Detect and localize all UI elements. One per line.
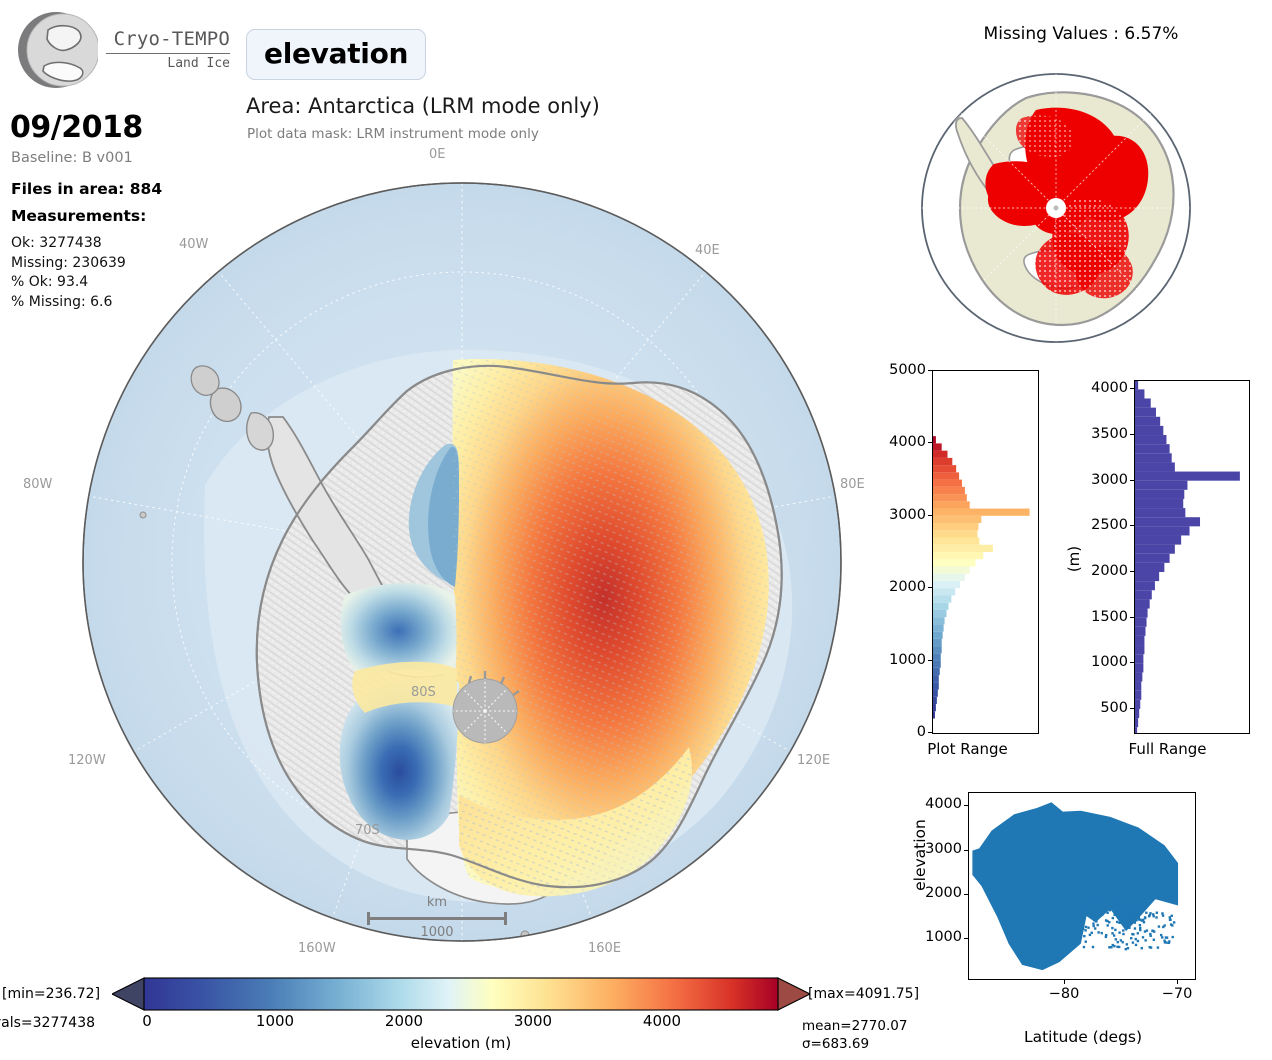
colorbar-tick-4000: 4000	[643, 1012, 681, 1030]
scatter-xtick: −80	[1044, 986, 1084, 1002]
scatter-ytick: 3000	[910, 841, 962, 857]
map-label-120E: 120E	[797, 753, 830, 768]
axis-tick-mark	[1130, 617, 1134, 618]
axis-tick-mark	[1130, 434, 1134, 435]
colorbar-tick-0: 0	[142, 1012, 152, 1030]
scatter-xtick-mark	[1177, 980, 1178, 984]
cryo-tempo-logo	[14, 8, 98, 92]
colorbar-tick-3000: 3000	[514, 1012, 552, 1030]
map-label-0E: 0E	[429, 147, 446, 162]
axis-tick-label: 1500	[1084, 609, 1128, 625]
plot-range-caption: Plot Range	[880, 740, 1055, 758]
axis-tick-mark	[1130, 388, 1134, 389]
map-label-40E: 40E	[695, 243, 720, 258]
scatter-ytick-mark	[964, 938, 968, 939]
area-title: Area: Antarctica (LRM mode only)	[246, 94, 600, 118]
parameter-badge: elevation	[246, 29, 426, 80]
plot-range-plot-area	[932, 370, 1039, 734]
axis-tick-mark	[1130, 525, 1134, 526]
axis-tick-label: 4000	[1084, 380, 1128, 396]
plot-range-histogram: Plot Range 010002000300040005000	[880, 366, 1055, 770]
mask-subtitle: Plot data mask: LRM instrument mode only	[247, 126, 539, 142]
scatter-ytick: 2000	[910, 885, 962, 901]
logo-wordmark: Cryo-TEMPO Land Ice	[100, 30, 230, 70]
colorbar-axis-label: elevation (m)	[112, 1034, 810, 1052]
map-label-80W: 80W	[23, 477, 52, 492]
axis-tick-label: 1000	[1084, 654, 1128, 670]
date-label: 09/2018	[10, 110, 143, 145]
scatter-ytick-mark	[964, 894, 968, 895]
colorbar-tick-2000: 2000	[385, 1012, 423, 1030]
scatter-xtick: −70	[1157, 986, 1197, 1002]
colorbar-max-label: [max=4091.75]	[808, 986, 919, 1002]
scalebar-unit: km	[367, 895, 507, 910]
elevation-latitude-scatter	[968, 792, 1196, 980]
axis-tick-mark	[1130, 571, 1134, 572]
map-label-40W: 40W	[179, 237, 208, 252]
axis-tick-label: 5000	[882, 362, 926, 378]
axis-tick-mark	[928, 442, 932, 443]
scatter-ytick-mark	[964, 850, 968, 851]
axis-tick-label: 3000	[882, 507, 926, 523]
map-label-120W: 120W	[68, 753, 106, 768]
axis-tick-mark	[1130, 662, 1134, 663]
axis-tick-label: 500	[1084, 700, 1128, 716]
colorbar-sigma-label: σ=683.69	[802, 1036, 869, 1052]
axis-tick-label: 4000	[882, 434, 926, 450]
axis-tick-label: 0	[882, 724, 926, 740]
antarctica-elevation-map: 0E 40E 80E 120E 160E 160W 120W 80W 40W 8…	[55, 155, 870, 970]
scatter-ytick: 1000	[910, 929, 962, 945]
colorbar-min-label: [min=236.72]	[2, 986, 100, 1002]
axis-tick-mark	[1130, 480, 1134, 481]
colorbar-mean-label: mean=2770.07	[802, 1018, 907, 1034]
map-label-160W: 160W	[298, 941, 336, 956]
axis-tick-label: 1000	[882, 652, 926, 668]
missing-values-map	[906, 58, 1206, 358]
axis-tick-mark	[928, 370, 932, 371]
map-label-80S: 80S	[411, 685, 436, 700]
logo-subtitle: Land Ice	[100, 57, 230, 70]
scatter-xtick-mark	[1064, 980, 1065, 984]
scatter-xlabel: Latitude (degs)	[918, 1028, 1248, 1046]
axis-tick-label: 2500	[1084, 517, 1128, 533]
logo-title: Cryo-TEMPO	[100, 30, 230, 49]
scalebar-value: 1000	[367, 925, 507, 940]
full-range-plot-area	[1134, 380, 1250, 734]
axis-tick-mark	[1130, 708, 1134, 709]
missing-values-title: Missing Values : 6.57%	[890, 24, 1272, 44]
logo-divider	[106, 53, 230, 54]
axis-tick-label: 2000	[1084, 563, 1128, 579]
scatter-ytick: 4000	[910, 796, 962, 812]
axis-tick-label: 3500	[1084, 426, 1128, 442]
axis-tick-label: 2000	[882, 579, 926, 595]
scatter-ytick-mark	[964, 805, 968, 806]
colorbar-nvals-label: nvals=3277438	[0, 1015, 95, 1031]
parameter-badge-label: elevation	[264, 37, 408, 70]
full-range-ylabel: (m)	[1065, 539, 1083, 579]
axis-tick-mark	[928, 660, 932, 661]
axis-tick-mark	[928, 587, 932, 588]
full-range-caption: Full Range	[1080, 740, 1255, 758]
colorbar-ticks: 0 1000 2000 3000 4000	[112, 1012, 810, 1032]
map-label-70S: 70S	[355, 823, 380, 838]
axis-tick-label: 3000	[1084, 472, 1128, 488]
map-label-160E: 160E	[588, 941, 621, 956]
axis-tick-mark	[928, 515, 932, 516]
map-scalebar: km 1000	[367, 895, 507, 940]
elevation-colorbar	[112, 977, 810, 1011]
colorbar-tick-1000: 1000	[256, 1012, 294, 1030]
full-range-histogram: (m) Full Range 5001000150020002500300035…	[1060, 366, 1256, 770]
map-label-80E: 80E	[840, 477, 865, 492]
axis-tick-mark	[928, 732, 932, 733]
